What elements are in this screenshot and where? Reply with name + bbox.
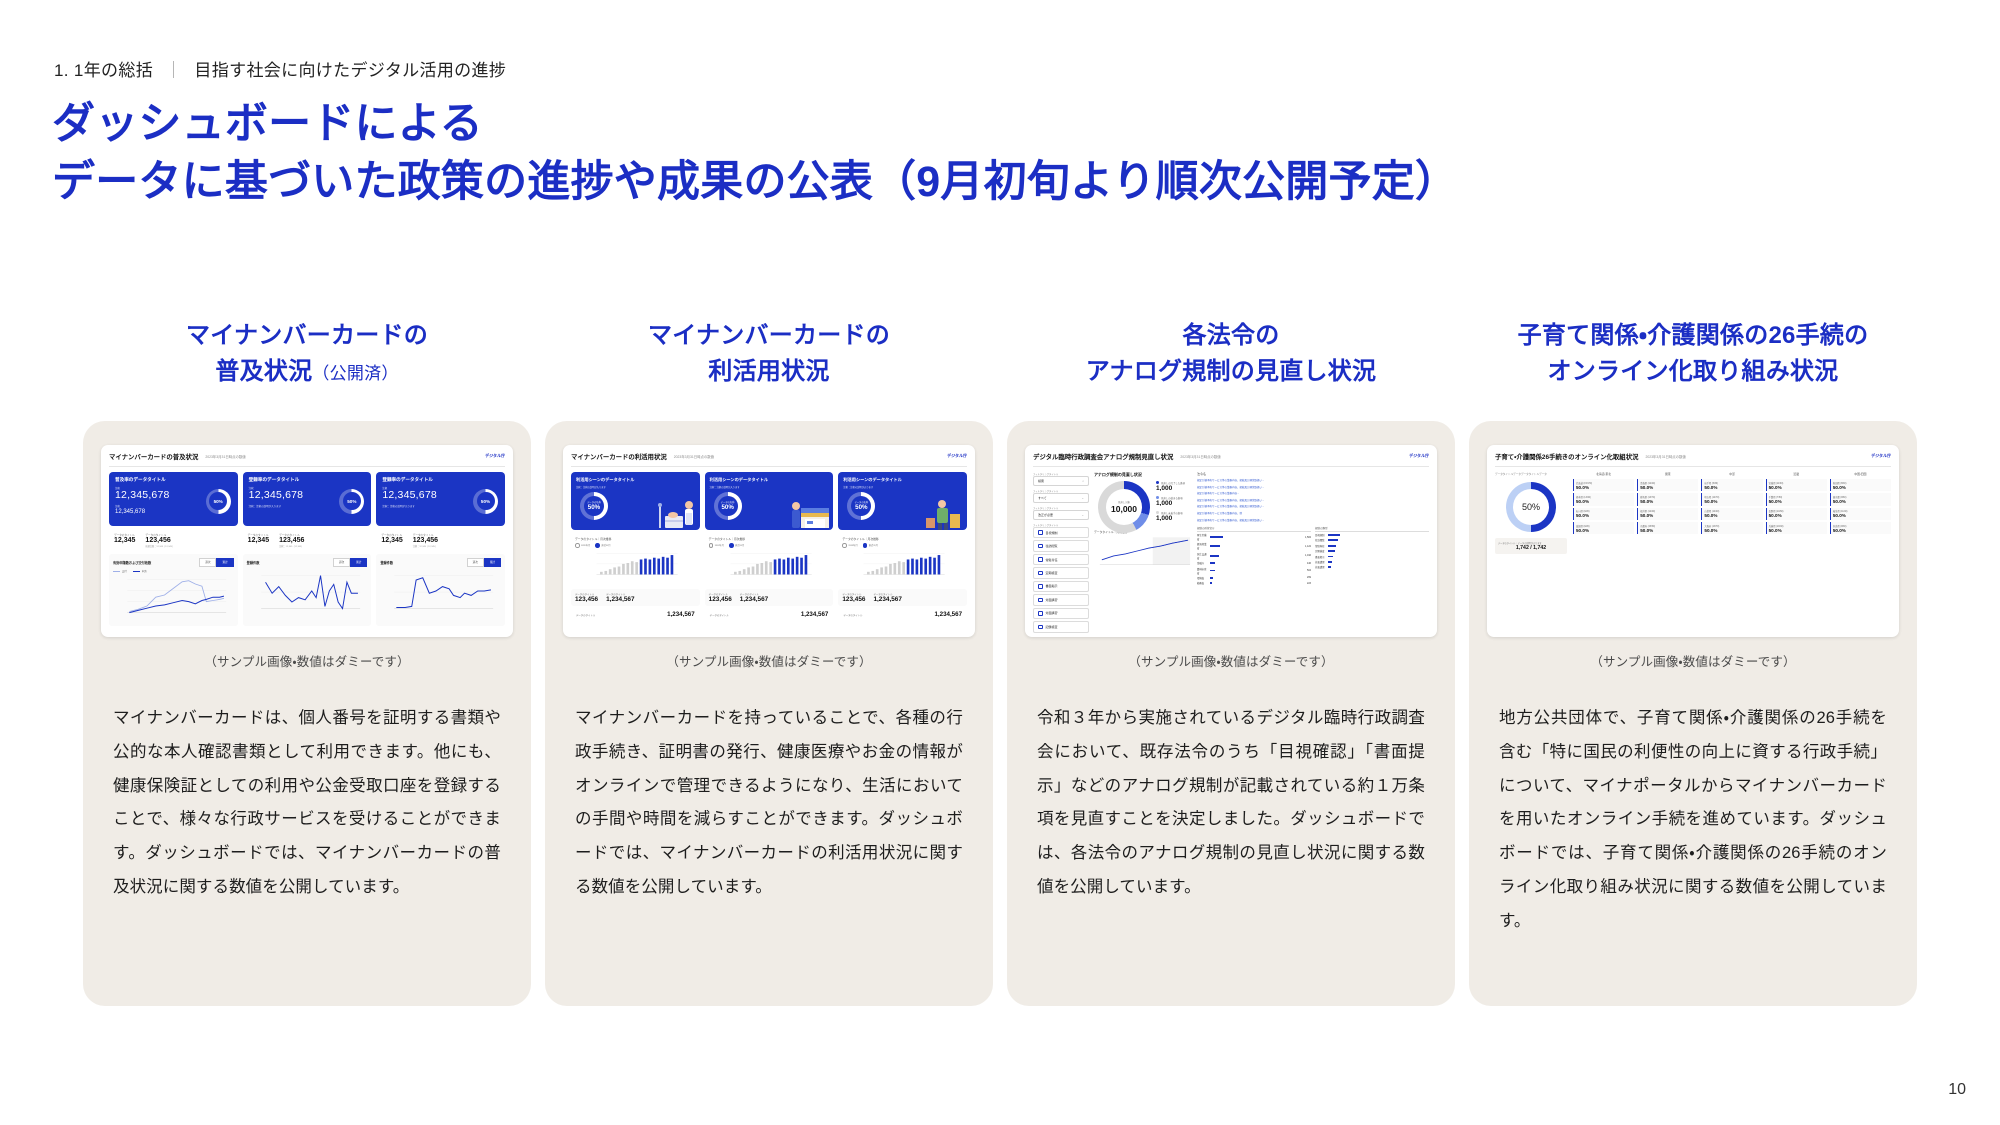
prefecture-cell[interactable]: 岩手県 (5/30)50.0% [1701,479,1762,491]
total-value: 1,234,567 [667,611,695,618]
prefecture-columns: 北海道 (15/170)50.0% 栃木県 (13/40)50.0% 石川県 (… [1573,479,1891,537]
regulation-filter-item[interactable]: 定期検査 [1033,567,1089,578]
medical-illustration [657,496,697,530]
chevron-down-icon: ⌄ [1081,513,1084,517]
row-bar [1328,539,1338,541]
regulation-item-label: 目視規制 [1046,531,1058,535]
kpi-card-title: 登録率のデータタイトル [382,477,499,483]
lecture-icon [1038,598,1043,603]
filter-select-all[interactable]: すべて⌄ [1033,493,1089,503]
column-heading-line2: 利活用状況 [708,358,829,385]
table-row: 定期検査 [1315,549,1429,553]
column-heading-line2: オンライン化取り組み状況 [1548,358,1839,385]
prefecture-column: 北海道 (15/170)50.0% 栃木県 (13/40)50.0% 石川県 (… [1573,479,1634,537]
column-heading-line1: 各法令の [1007,318,1455,354]
filter-sidebar: フィルタリングタイトル 検索⌕ フィルタリングタイトル すべて⌄ フィルタリング… [1033,472,1089,635]
stat-note: 注釈：12,345（12,345） [413,544,438,548]
regulation-donut: 見直し対象 10,000 [1098,481,1150,533]
dashboard-screenshot-4[interactable]: 子育て・介護関係26手続きのオンライン化取組状況 2023年3月31日時点の数値… [1487,445,1899,637]
breadcrumb-separator: ｜ [153,61,194,80]
bar-chart-caption: データのタイトル｜月次推移 [575,537,696,541]
bar-chart-caption: データのタイトル｜月次推移 [842,537,963,541]
stat-group: データのタイトル12,345 データのタイトル123,456前週比較：12,34… [109,530,238,551]
prefecture-value: 50.0% [1640,528,1696,533]
chart-name: 登録件数 [247,560,260,565]
row-bar [1328,550,1335,552]
filter-group: フィルタリングタイトル 検索⌕ [1033,472,1089,486]
prefecture-value: 50.0% [1769,513,1825,518]
prefecture-cell[interactable]: 長野県 (14/60)50.0% [1766,508,1827,520]
bar-chart-svg [709,548,830,578]
prefecture-value: 50.0% [1833,499,1889,504]
kpi-donut: 50% [339,489,364,514]
prefecture-value: 50.0% [1576,513,1632,518]
usage-total: データのタイトル1,234,567 [838,609,967,620]
column-heading-line2: 普及状況 [215,358,312,385]
prefecture-cell[interactable]: 福井県 (12/40)50.0% [1637,508,1698,520]
lecture-icon [1038,611,1043,616]
filter-group: フィルタリングタイトル すべて⌄ [1033,489,1089,503]
usage-card-label: 注釈：注釈の説明が入ります [843,485,962,489]
stat-value: 123,456 [279,537,304,544]
search-input[interactable]: 検索⌕ [1033,476,1089,486]
prefecture-value: 50.0% [1769,499,1825,504]
law-link[interactable]: 規定が適予約サービス等の業務内容、接続及び運営取扱い... [1197,518,1429,522]
prefecture-value: 50.0% [1833,485,1889,490]
filter-select-value: 改正が必要 [1038,513,1053,517]
law-link[interactable]: 規定が適予約サービス等の業務内容、接続及び運営取扱い... [1197,478,1429,482]
table-header: 規制の所管官庁 [1197,526,1311,532]
usage-card[interactable]: 利活用シーンのデータタイトル 注釈：注釈の説明が入ります データの名称 50% [705,472,834,530]
mock-title: マイナンバーカードの普及状況 [109,452,198,461]
sample-caption: （サンプル画像・数値はダミーです） [101,651,513,670]
usage-total-row: データのタイトル1,234,567 データのタイトル1,234,567 データの… [571,609,967,620]
usage-total: データのタイトル1,234,567 [705,609,834,620]
row-bar [1328,561,1332,563]
bar-chart-panel[interactable]: データのタイトル｜月次推移 xxxx年月直近xx月 [571,534,700,586]
kpi-card[interactable]: 登録率のデータタイトル 注釈 12,345,678 注釈：注釈の説明が入ります … [376,472,505,526]
row-label: 対面講習 [1315,560,1326,564]
usage-card-title: 利活用シーンのデータタイトル [710,477,829,483]
column-heading: マイナンバーカードの 普及状況（公開済） [83,318,531,391]
law-link[interactable]: 規定が適予約サービス等の業務内容... [1197,491,1429,495]
breadcrumb: 1. 1年の総括｜目指す社会に向けたデジタル活用の進捗 [54,56,506,81]
row-label: 農林水産省 [1197,567,1208,575]
toggle-cumulative[interactable]: 累計 [350,558,367,567]
row-label: 金融庁 [1197,561,1208,565]
table-row: 金融庁446 [1197,561,1311,565]
table-header: 規制の類型 [1315,526,1429,532]
filter-select-value: すべて [1038,496,1047,500]
person-illustration [924,496,964,530]
table-row: 国土交通省1,016 [1197,552,1311,560]
prefecture-value: 50.0% [1576,499,1632,504]
bar-chart-svg [842,548,963,578]
row-label: 環境省 [1197,576,1208,580]
prefecture-cell[interactable]: 京都府 (15/50)50.0% [1637,522,1698,534]
dashboard-screenshot-1[interactable]: マイナンバーカードの普及状況 2023年3月31日時点の数値 デジタル庁 普及率… [101,445,513,637]
table-row: 厚生労働省1,584 [1197,533,1311,541]
region-header: 近畿 [1766,472,1827,476]
donut-legend: 見直しの完了した条項1,000 見直しの始まる条項1,000 見直し未着手の条項… [1156,481,1192,522]
regulation-item-label: 対面講習 [1046,611,1058,615]
prefecture-cell[interactable]: 滋賀県 (9/20)50.0% [1573,522,1634,534]
column-heading-note: （公開済） [312,364,398,383]
prefecture-value: 50.0% [1769,528,1825,533]
prefecture-value: 50.0% [1704,513,1760,518]
bar-chart-panel[interactable]: データのタイトル｜月次推移 xxxx年月直近xx月 [705,534,834,586]
region-header: 中国・四国 [1830,472,1891,476]
usage-card-label: 注釈：注釈の説明が入ります [710,485,829,489]
row-label: 定期検査 [1315,549,1326,553]
chart-toggle[interactable]: 週次累計 [333,558,367,567]
mock-title: デジタル臨時行政調査会アナログ規制見直し状況 [1033,452,1173,461]
row-bar [1210,545,1220,547]
prefecture-cell[interactable]: 兵庫県 (10/40)50.0% [1766,522,1827,534]
chart-title: アナログ規制の見直し状況 [1094,472,1192,478]
sample-caption: （サンプル画像・数値はダミーです） [563,651,975,670]
usage-card[interactable]: 利活用シーンのデータタイトル 注釈：注釈の説明が入ります データの名称 50% [838,472,967,530]
prefecture-value: 50.0% [1704,485,1760,490]
regulation-item-label: 往訪閲覧 [1046,544,1058,548]
prefecture-cell[interactable]: 山梨県 (14/40)50.0% [1701,508,1762,520]
row-bar [1210,577,1213,579]
law-link[interactable]: 規定が適予約サービス等の業務内容、他 [1197,511,1429,515]
prefecture-value: 50.0% [1833,528,1889,533]
column-heading: 各法令の アナログ規制の見直し状況 [1007,318,1455,391]
number-value: 1,234,567 [740,596,768,603]
usage-number-group: データのタイトル123,456 データのタイトル1,234,567 [571,589,700,606]
row-value: 1,122 [1305,545,1311,548]
online-donut-percent: 50% [1522,502,1540,512]
kpi-card-title: 登録率のデータタイトル [249,477,366,483]
table-row: 農林水産省504 [1197,567,1311,575]
prefecture-cell[interactable]: 栃木県 (13/40)50.0% [1573,493,1634,505]
kpi-card-title: 普及率のデータタイトル [115,477,232,483]
usage-donut-percent: 50% [588,504,600,511]
prefecture-value: 50.0% [1704,528,1760,533]
total-key: データのタイトル [843,613,862,617]
row-label: 国土交通省 [1197,552,1208,560]
usage-number-group: データのタイトル123,456 データのタイトル1,234,567 [838,589,967,606]
row-value: 446 [1307,562,1311,565]
usage-donut: データの名称 50% [847,492,875,520]
stat-note: 注釈：12,345（12,345） [279,544,304,548]
sample-caption: （サンプル画像・数値はダミーです） [1025,651,1437,670]
bar-chart-caption: データのタイトル｜月次推移 [709,537,830,541]
column-analog-regulation: 各法令の アナログ規制の見直し状況 デジタル臨時行政調査会アナログ規制見直し状況… [1007,318,1455,1006]
page-number: 10 [1948,1081,1966,1099]
chart-toggle[interactable]: 週次累計 [467,558,501,567]
column-body-text: 地方公共団体で、子育て関係・介護関係の26手続を含む「特に国民の利便性の向上に資… [1487,702,1899,939]
row-bar [1210,562,1215,564]
regulation-chart-area: アナログ規制の見直し状況 見直し対象 10,000 見直しの完了した条項1,00… [1094,472,1192,635]
regulation-item-label: 対面講習 [1046,598,1058,602]
line-chart-panel[interactable]: 登録件数 週次累計 [376,554,505,627]
prefecture-cell[interactable]: 秋田県 (8/30)50.0% [1830,479,1891,491]
dashboard-screenshot-3[interactable]: デジタル臨時行政調査会アナログ規制見直し状況 2023年3月31日時点の数値 デ… [1025,445,1437,637]
column-panel: マイナンバーカードの利活用状況 2023年3月31日時点の数値 デジタル庁 利活… [545,421,993,1006]
prefecture-cell[interactable]: 千葉県 (7/50)50.0% [1766,493,1827,505]
column-panel: マイナンバーカードの普及状況 2023年3月31日時点の数値 デジタル庁 普及率… [83,421,531,1006]
usage-donut: データの名称 50% [580,492,608,520]
prefecture-cell[interactable]: 北海道 (15/170)50.0% [1573,479,1634,491]
ministry-table-row: 規制の所管官庁 厚生労働省1,584 経済産業省1,122 国土交通省1,016… [1197,526,1429,587]
usage-card[interactable]: 利活用シーンのデータタイトル 注釈：注釈の説明が入ります データの名称 50% [571,472,700,530]
line-chart-svg [247,569,368,613]
regulation-filter-item[interactable]: 対面講習 [1033,594,1089,605]
page-title-line1: ダッシュボードによる [52,96,1458,154]
usage-card-title: 利活用シーンのデータタイトル [843,477,962,483]
usage-card-label: 注釈：注釈の説明が入ります [576,485,695,489]
row-value: 504 [1307,569,1311,572]
row-bar [1210,536,1223,538]
region-header-row: 北海道・東北 関東 中部 近畿 中国・四国 [1573,472,1891,476]
bar-chart-row: データのタイトル｜月次推移 xxxx年月直近xx月 [571,534,967,586]
stat-value: 12,345 [381,537,402,544]
kpi-card-row: 普及率のデータタイトル 注釈 12,345,678 注釈 12,345,678 … [109,472,505,526]
agency-logo: デジタル庁 [947,453,967,459]
row-label: 厚生労働省 [1197,533,1208,541]
line-chart-svg [113,573,234,617]
prefecture-value: 50.0% [1833,513,1889,518]
law-link[interactable]: 規定が適予約サービス等の業務内容、接続及び運営取扱い... [1197,485,1429,489]
toggle-cumulative[interactable]: 累計 [484,558,501,567]
table-row: 対面講習 [1315,560,1429,564]
prefecture-column: 青森県 (12/40)50.0% 群馬県 (13/70)50.0% 福井県 (1… [1637,479,1698,537]
stat-row: データのタイトル12,345 データのタイトル123,456前週比較：12,34… [109,530,505,551]
online-summary: データタイトルデータデータタイトルデータ 50% データのタイトル｜データの説明… [1495,472,1567,554]
regulation-item-label: 書面掲示 [1046,584,1058,588]
usage-number-group: データのタイトル123,456 データのタイトル1,234,567 [705,589,834,606]
column-body-text: マイナンバーカードを持っていることで、各種の行政手続き、証明書の発行、健康医療や… [563,702,975,905]
summary-note-value: 1,742 / 1,742 [1498,545,1564,551]
mock-title: マイナンバーカードの利活用状況 [571,452,667,461]
regulation-filter-item[interactable]: 記録検査 [1033,621,1089,632]
line-chart-row: 有効申請数および交付枚数 週次累計 交付申請 [109,554,505,627]
number-value: 1,234,567 [606,596,634,603]
column-panel: デジタル臨時行政調査会アナログ規制見直し状況 2023年3月31日時点の数値 デ… [1007,421,1455,1006]
row-label: 総務省 [1197,581,1208,585]
store-illustration [789,496,831,530]
table-row: 往訪閲覧 [1315,538,1429,542]
mock-header: マイナンバーカードの利活用状況 2023年3月31日時点の数値 デジタル庁 [571,452,967,467]
number-value: 1,234,567 [873,596,901,603]
number-value: 123,456 [842,596,865,603]
toggle-weekly[interactable]: 週次 [333,558,350,567]
table-row: 環境省269 [1197,576,1311,580]
row-bar [1210,555,1219,557]
regulation-item-label: 定期検査 [1046,571,1058,575]
row-bar [1328,534,1340,536]
usage-card-title: 利活用シーンのデータタイトル [576,477,695,483]
usage-card-row: 利活用シーンのデータタイトル 注釈：注釈の説明が入ります データの名称 50% [571,472,967,530]
agency-logo: デジタル庁 [485,453,505,459]
column-mynumber-penetration: マイナンバーカードの 普及状況（公開済） マイナンバーカードの普及状況 2023… [83,318,531,1006]
prefecture-cell[interactable]: 大阪府 (13/70)50.0% [1701,522,1762,534]
agency-logo: デジタル庁 [1871,453,1891,459]
dashboard-columns: マイナンバーカードの 普及状況（公開済） マイナンバーカードの普及状況 2023… [0,318,2000,1006]
row-label: 目視規制 [1315,533,1326,537]
mock-header: デジタル臨時行政調査会アナログ規制見直し状況 2023年3月31日時点の数値 デ… [1033,452,1429,467]
row-bar [1210,570,1215,572]
regulation-filter-item[interactable]: 常駐専任 [1033,554,1089,565]
usage-donut-percent: 50% [855,504,867,511]
page-title-line2: データに基づいた政策の進捗や成果の公表（9月初旬より順次公開予定） [52,154,1458,212]
column-heading: マイナンバーカードの 利活用状況 [545,318,993,391]
regulation-item-label: 常駐専任 [1046,558,1058,562]
stat-group: データのタイトル12,345 データのタイトル123,456注釈：12,345（… [376,530,505,551]
bar-chart-svg [575,548,696,578]
filter-select-status[interactable]: 改正が必要⌄ [1033,510,1089,520]
regulation-filter-item[interactable]: 往訪閲覧 [1033,540,1089,551]
column-body-text: マイナンバーカードは、個人番号を証明する書類や公的な本人確認書類として利用できま… [101,702,513,905]
mock-date: 2023年3月31日時点の数値 [1180,454,1220,459]
prefecture-value: 50.0% [1576,485,1632,490]
legend-value: 1,000 [1156,515,1192,522]
row-value: 269 [1307,576,1311,579]
toggle-weekly[interactable]: 週次 [199,558,216,567]
table-row: 目視規制 [1315,533,1429,537]
column-childcare-online: 子育て関係・介護関係の26手続の オンライン化取り組み状況 子育て・介護関係26… [1469,318,1917,1006]
ministry-table: 規制の所管官庁 厚生労働省1,584 経済産業省1,122 国土交通省1,016… [1197,526,1311,587]
chart-name: 有効申請数および交付枚数 [113,560,151,565]
mock-date: 2023年3月31日時点の数値 [674,454,714,459]
chart-toggle[interactable]: 週次累計 [199,558,233,567]
breadcrumb-subject: 目指す社会に向けたデジタル活用の進捗 [194,61,506,80]
table-row: 総務省223 [1197,581,1311,585]
regulation-filter-item[interactable]: 対面講習 [1033,608,1089,619]
prefecture-value: 50.0% [1640,499,1696,504]
prefecture-cell[interactable]: 奈良県 (9/30)50.0% [1830,522,1891,534]
prefecture-value: 50.0% [1640,513,1696,518]
prefecture-column: 秋田県 (8/30)50.0% 東京都 (9/60)50.0% 岐阜県 (11/… [1830,479,1891,537]
dashboard-screenshot-2[interactable]: マイナンバーカードの利活用状況 2023年3月31日時点の数値 デジタル庁 利活… [563,445,975,637]
kpi-donut-percent: 50% [481,499,490,504]
inspect-icon [1038,571,1043,576]
region-header: 中部 [1701,472,1762,476]
regulation-filter-item[interactable]: 書面掲示 [1033,581,1089,592]
number-value: 123,456 [709,596,732,603]
prefecture-cell[interactable]: 東京都 (9/60)50.0% [1830,493,1891,505]
total-key: データのタイトル [576,613,595,617]
column-heading-line1: マイナンバーカードの [83,318,531,354]
line-chart-svg [380,569,501,613]
toggle-cumulative[interactable]: 累計 [216,558,233,567]
prefecture-column: 宮城県 (11/30)50.0% 千葉県 (7/50)50.0% 長野県 (14… [1766,479,1827,537]
row-label: 常駐専任 [1315,544,1326,548]
prefecture-value: 50.0% [1640,485,1696,490]
document-icon [1038,584,1043,589]
summary-note: データのタイトル｜データの説明が入ります 1,742 / 1,742 [1495,538,1567,554]
line-chart-panel[interactable]: 有効申請数および交付枚数 週次累計 交付申請 [109,554,238,627]
prefecture-cell[interactable]: 石川県 (9/20)50.0% [1573,508,1634,520]
row-label: 経済産業省 [1197,542,1208,550]
filter-group: フィルタリングタイトル 改正が必要⌄ [1033,506,1089,520]
eye-icon [1038,530,1043,535]
row-value: 223 [1307,582,1311,585]
column-heading: 子育て関係・介護関係の26手続の オンライン化取り組み状況 [1469,318,1917,391]
table-row: 対面講習 [1315,565,1429,569]
regulation-item-label: 記録検査 [1046,625,1058,629]
record-icon [1038,625,1043,630]
prefecture-value: 50.0% [1576,528,1632,533]
prefecture-cell[interactable]: 埼玉県 (14/70)50.0% [1701,493,1762,505]
breadcrumb-section: 1. 1年の総括 [54,61,153,80]
stat-value: 123,456 [413,537,438,544]
row-value: 1,016 [1305,554,1311,557]
number-value: 123,456 [575,596,598,603]
regulation-filter-item[interactable]: 目視規制 [1033,527,1089,538]
mock-header: 子育て・介護関係26手続きのオンライン化取組状況 2023年3月31日時点の数値… [1495,452,1891,467]
stat-value: 12,345 [114,537,135,544]
prefecture-cell[interactable]: 群馬県 (13/70)50.0% [1637,493,1698,505]
online-donut: 50% [1506,482,1556,532]
resident-icon [1038,557,1043,562]
law-list-header: 法令名 [1197,472,1429,476]
search-input-value: 検索 [1038,479,1044,483]
legend-value: 1,000 [1156,500,1192,507]
total-value: 1,234,567 [934,611,962,618]
region-header: 北海道・東北 [1573,472,1634,476]
region-header: 関東 [1637,472,1698,476]
table-row: 書面掲示 [1315,555,1429,559]
donut-center-value: 10,000 [1111,504,1137,514]
law-link[interactable]: 規定が適予約サービス等の業務内容、接続及び運営取扱い... [1197,498,1429,502]
row-label: 往訪閲覧 [1315,538,1326,542]
usage-donut-percent: 50% [721,504,733,511]
table-row: 常駐専任 [1315,544,1429,548]
kpi-donut-percent: 50% [214,499,223,504]
kpi-donut-percent: 50% [347,499,356,504]
legend-value: 1,000 [1156,485,1192,492]
row-bar [1328,556,1333,558]
prefecture-column: 岩手県 (5/30)50.0% 埼玉県 (14/70)50.0% 山梨県 (14… [1701,479,1762,537]
total-key: データのタイトル [710,613,729,617]
column-body-text: 令和３年から実施されているデジタル臨時行政調査会において、既存法令のうち「目視確… [1025,702,1437,905]
toggle-weekly[interactable]: 週次 [467,558,484,567]
trend-chart-svg [1094,534,1192,568]
row-value: 1,584 [1305,536,1311,539]
bar-chart-panel[interactable]: データのタイトル｜月次推移 xxxx年月直近xx月 [838,534,967,586]
stat-group: データのタイトル12,345 データのタイトル123,456注釈：12,345（… [243,530,372,551]
kpi-donut: 50% [206,489,231,514]
summary-label: データタイトルデータデータタイトルデータ [1495,472,1567,476]
usage-total: データのタイトル1,234,567 [571,609,700,620]
prefecture-cell[interactable]: 青森県 (12/40)50.0% [1637,479,1698,491]
column-panel: 子育て・介護関係26手続きのオンライン化取組状況 2023年3月31日時点の数値… [1469,421,1917,1006]
mock-header: マイナンバーカードの普及状況 2023年3月31日時点の数値 デジタル庁 [109,452,505,467]
law-link[interactable]: 規定が適予約サービス等の業務内容、接続及び運営取扱い... [1197,504,1429,508]
line-chart-panel[interactable]: 登録件数 週次累計 [243,554,372,627]
prefecture-cell[interactable]: 宮城県 (11/30)50.0% [1766,479,1827,491]
usage-donut: データの名称 50% [714,492,742,520]
prefecture-value: 50.0% [1704,499,1760,504]
visit-icon [1038,544,1043,549]
prefecture-cell[interactable]: 岐阜県 (11/40)50.0% [1830,508,1891,520]
prefecture-grid: 北海道・東北 関東 中部 近畿 中国・四国 北海道 (15/170)50.0% … [1573,472,1891,554]
kpi-card[interactable]: 普及率のデータタイトル 注釈 12,345,678 注釈 12,345,678 … [109,472,238,526]
chart-name: 登録件数 [380,560,393,565]
stat-value: 12,345 [248,537,269,544]
prefecture-value: 50.0% [1769,485,1825,490]
table-row: 経済産業省1,122 [1197,542,1311,550]
column-heading-line2: アナログ規制の見直し状況 [1086,358,1376,385]
mock-title: 子育て・介護関係26手続きのオンライン化取組状況 [1495,452,1638,461]
stat-value: 123,456 [145,537,174,544]
row-label: 書面掲示 [1315,555,1326,559]
kpi-card[interactable]: 登録率のデータタイトル 注釈 12,345,678 注釈：注釈の説明が入ります … [243,472,372,526]
